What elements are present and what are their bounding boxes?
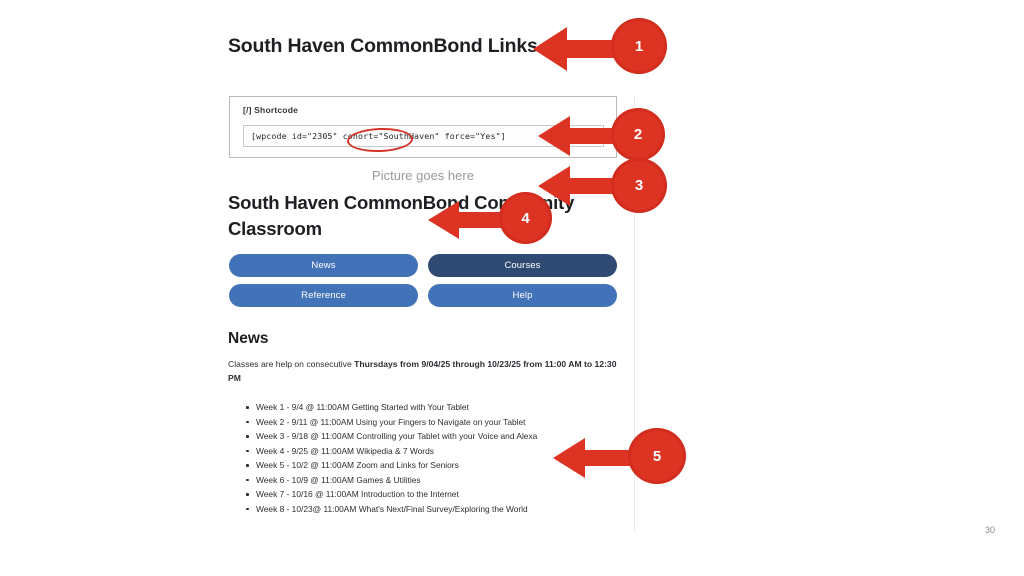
nav-button-help[interactable]: Help	[428, 284, 617, 307]
shortcode-block: [/] Shortcode [wpcode id="2305" cohort="…	[229, 96, 617, 158]
callout-2-number: 2	[634, 126, 642, 143]
callout-1-number: 1	[635, 38, 643, 55]
nav-button-help-label: Help	[513, 290, 533, 301]
shortcode-input[interactable]: [wpcode id="2305" cohort="SouthHaven" fo…	[243, 125, 604, 147]
shortcode-label: [/] Shortcode	[243, 105, 298, 115]
nav-button-news-label: News	[311, 260, 335, 271]
list-item: Week 7 - 10/16 @ 11:00AM Introduction to…	[256, 490, 636, 498]
callout-2-badge: 2	[611, 108, 665, 161]
list-item: Week 5 - 10/2 @ 11:00AM Zoom and Links f…	[256, 461, 636, 469]
news-item-list: Week 1 - 9/4 @ 11:00AM Getting Started w…	[240, 403, 636, 519]
list-item: Week 3 - 9/18 @ 11:00AM Controlling your…	[256, 432, 636, 440]
list-item: Week 6 - 10/9 @ 11:00AM Games & Utilitie…	[256, 476, 636, 484]
callout-3-number: 3	[635, 177, 643, 194]
slide-canvas: South Haven CommonBond Links [/] Shortco…	[0, 0, 1024, 576]
nav-button-courses[interactable]: Courses	[428, 254, 617, 277]
callout-5-number: 5	[653, 448, 661, 465]
news-intro-text: Classes are help on consecutive Thursday…	[228, 358, 620, 386]
site-heading: South Haven CommonBond Community Classro…	[228, 190, 628, 241]
callout-5-badge: 5	[628, 428, 686, 484]
callout-1-badge: 1	[611, 18, 667, 74]
nav-button-news[interactable]: News	[229, 254, 418, 277]
page-number: 30	[985, 525, 995, 535]
arrow-left-icon	[533, 25, 629, 73]
shortcode-value: [wpcode id="2305" cohort="SouthHaven" fo…	[244, 131, 506, 141]
callout-1: 1	[533, 18, 663, 80]
list-item: Week 4 - 9/25 @ 11:00AM Wikipedia & 7 Wo…	[256, 447, 636, 455]
nav-button-courses-label: Courses	[504, 260, 540, 271]
nav-button-reference[interactable]: Reference	[229, 284, 418, 307]
nav-button-reference-label: Reference	[301, 290, 346, 301]
page-title: South Haven CommonBond Links	[228, 35, 538, 58]
list-item: Week 2 - 9/11 @ 11:00AM Using your Finge…	[256, 418, 636, 426]
nav-button-grid: News Courses Reference Help	[229, 254, 617, 307]
picture-placeholder: Picture goes here	[229, 168, 617, 183]
list-item: Week 1 - 9/4 @ 11:00AM Getting Started w…	[256, 403, 636, 411]
news-section-title: News	[228, 330, 269, 348]
news-intro-prefix: Classes are help on consecutive	[228, 359, 354, 369]
list-item: Week 8 - 10/23@ 11:00AM What's Next/Fina…	[256, 505, 636, 513]
